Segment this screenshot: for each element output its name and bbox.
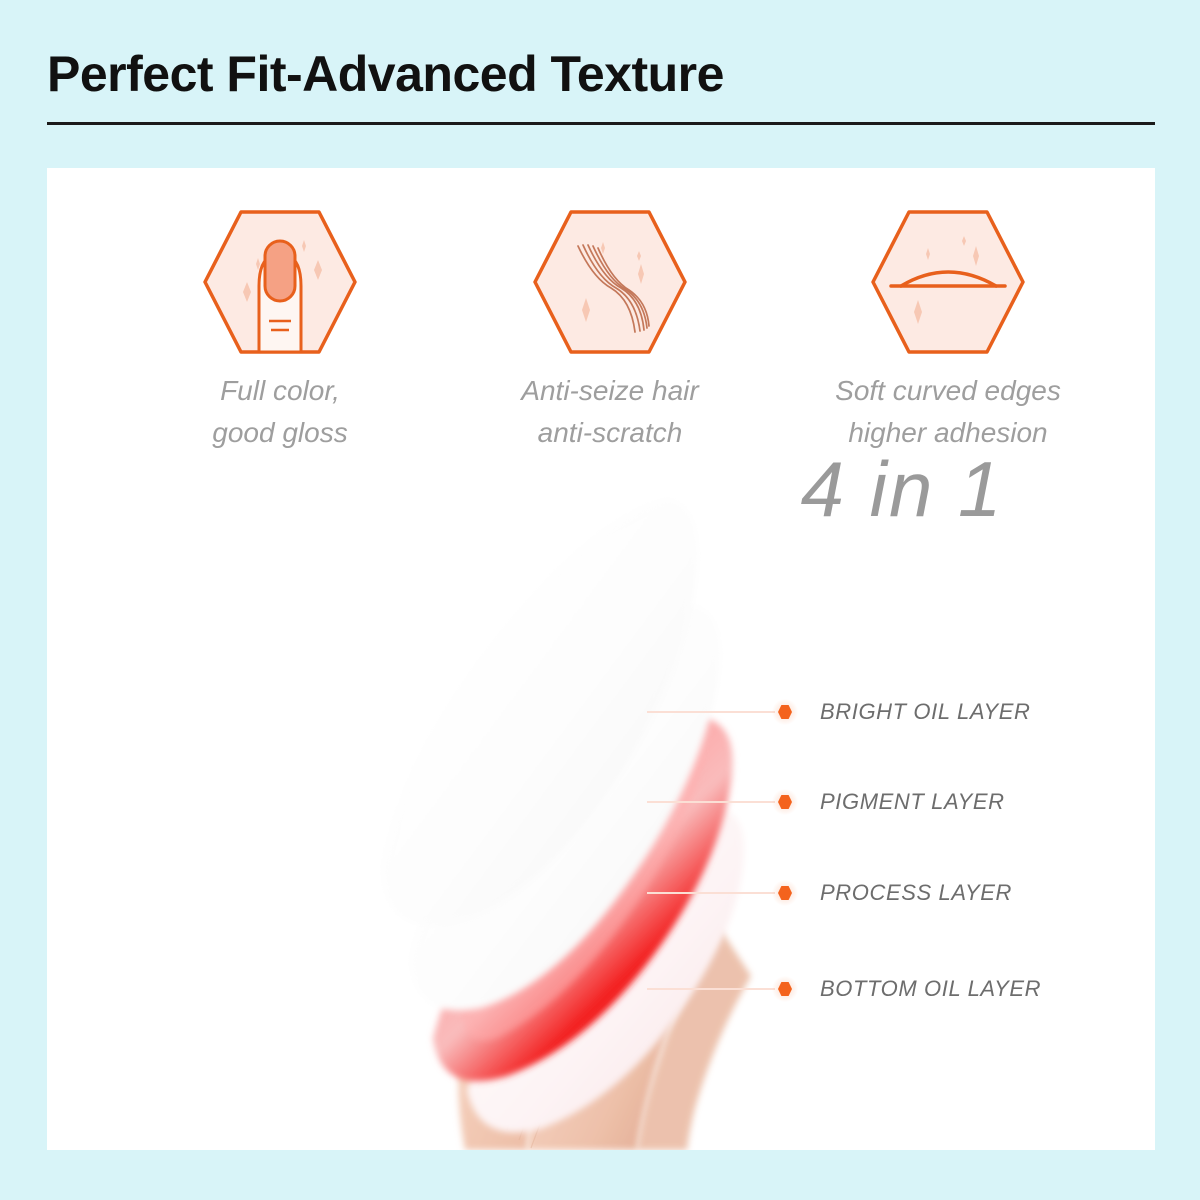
- callout-pigment-layer: PIGMENT LAYER: [647, 787, 1005, 817]
- page-title: Perfect Fit-Advanced Texture: [47, 44, 1155, 104]
- hexagon-bullet-icon: [772, 976, 798, 1002]
- callout-bottom-oil-layer: BOTTOM OIL LAYER: [647, 974, 1041, 1004]
- callout-leader-line: [647, 801, 775, 803]
- callout-label: BOTTOM OIL LAYER: [820, 976, 1041, 1002]
- callout-label: BRIGHT OIL LAYER: [820, 699, 1031, 725]
- callout-leader-line: [647, 892, 775, 894]
- callout-leader-line: [647, 711, 775, 713]
- hexagon-bullet-icon: [772, 880, 798, 906]
- callout-label: PIGMENT LAYER: [820, 789, 1005, 815]
- content-card: Full color, good gloss: [47, 168, 1155, 1150]
- callout-bright-oil-layer: BRIGHT OIL LAYER: [647, 697, 1031, 727]
- hexagon-bullet-icon: [772, 789, 798, 815]
- hexagon-bullet-icon: [772, 699, 798, 725]
- callout-leader-line: [647, 988, 775, 990]
- layer-callout-list: BRIGHT OIL LAYER PIGMENT LAYER PROCESS L…: [47, 168, 1155, 1150]
- title-divider: [47, 122, 1155, 125]
- callout-process-layer: PROCESS LAYER: [647, 878, 1012, 908]
- callout-label: PROCESS LAYER: [820, 880, 1012, 906]
- page-header: Perfect Fit-Advanced Texture: [47, 44, 1155, 128]
